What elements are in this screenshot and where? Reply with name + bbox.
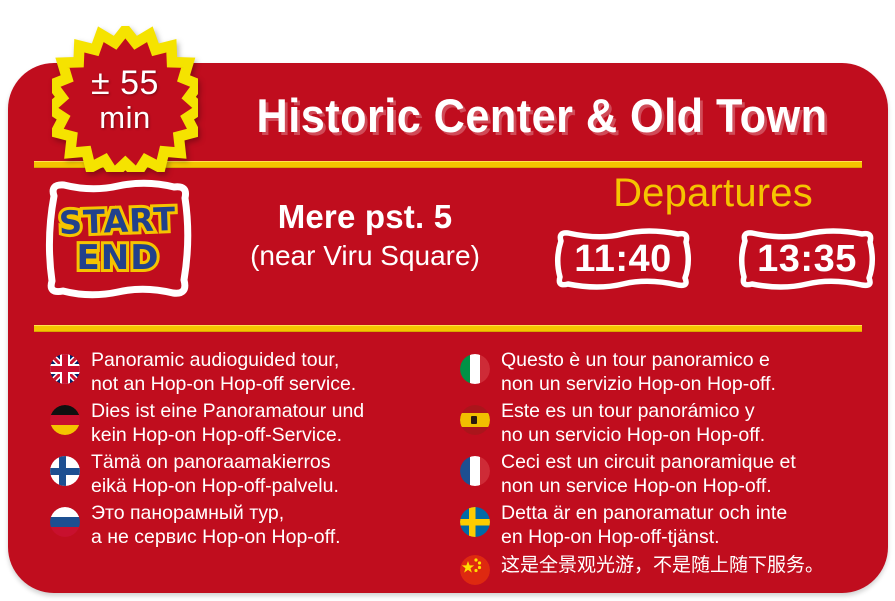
language-row-zh: 这是全景观光游，不是随上随下服务。 xyxy=(460,552,875,585)
china-flag-icon xyxy=(460,555,490,585)
france-flag-icon xyxy=(460,456,490,486)
italy-flag-icon xyxy=(460,354,490,384)
page-title: Historic Center & Old Town xyxy=(233,88,851,143)
language-row-de: Dies ist eine Panoramatour und kein Hop-… xyxy=(50,399,440,447)
language-row-en: Panoramic audioguided tour, not an Hop-o… xyxy=(50,348,440,396)
language-row-fi: Tämä on panoraamakierros eikä Hop-on Hop… xyxy=(50,450,440,498)
language-list-right: Questo è un tour panoramico e non un ser… xyxy=(460,348,875,588)
language-text-es: Este es un tour panorámico y no un servi… xyxy=(501,399,765,447)
spain-flag-icon xyxy=(460,405,490,435)
language-row-sv: Detta är en panoramatur och inte en Hop-… xyxy=(460,501,875,549)
language-text-sv: Detta är en panoramatur och inte en Hop-… xyxy=(501,501,787,549)
language-text-de: Dies ist eine Panoramatour und kein Hop-… xyxy=(91,399,364,447)
stop-address-block: Mere pst. 5 (near Viru Square) xyxy=(205,198,525,272)
language-row-fr: Ceci est un circuit panoramique et non u… xyxy=(460,450,875,498)
language-text-fi: Tämä on panoraamakierros eikä Hop-on Hop… xyxy=(91,450,339,498)
stop-landmark: (near Viru Square) xyxy=(205,240,525,272)
departure-time-box: 13:35 xyxy=(736,228,878,290)
departure-time-value: 11:40 xyxy=(552,228,694,290)
language-text-en: Panoramic audioguided tour, not an Hop-o… xyxy=(91,348,356,396)
language-text-ru: Это панорамный тур, а не сервис Hop-on H… xyxy=(91,501,341,549)
start-end-logo: START END xyxy=(42,176,194,304)
sweden-flag-icon xyxy=(460,507,490,537)
language-row-ru: Это панорамный тур, а не сервис Hop-on H… xyxy=(50,501,440,549)
departure-time-value: 13:35 xyxy=(736,228,878,290)
language-text-fr: Ceci est un circuit panoramique et non u… xyxy=(501,450,796,498)
finland-flag-icon xyxy=(50,456,80,486)
germany-flag-icon xyxy=(50,405,80,435)
departures-times: 11:40 13:35 xyxy=(552,228,878,290)
language-text-it: Questo è un tour panoramico e non un ser… xyxy=(501,348,776,396)
tour-info-card: ± 55 min Historic Center & Old Town STAR… xyxy=(0,0,895,601)
language-text-zh: 这是全景观光游，不是随上随下服务。 xyxy=(501,552,824,578)
language-list-left: Panoramic audioguided tour, not an Hop-o… xyxy=(50,348,440,552)
uk-flag-icon xyxy=(50,354,80,384)
stop-address: Mere pst. 5 xyxy=(205,198,525,236)
duration-badge: ± 55 min xyxy=(52,26,198,172)
divider-bottom xyxy=(34,325,862,332)
language-row-it: Questo è un tour panoramico e non un ser… xyxy=(460,348,875,396)
language-row-es: Este es un tour panorámico y no un servi… xyxy=(460,399,875,447)
starburst-icon xyxy=(52,26,198,172)
wavy-frame-icon xyxy=(42,176,194,304)
departure-time-box: 11:40 xyxy=(552,228,694,290)
russia-flag-icon xyxy=(50,507,80,537)
departures-heading: Departures xyxy=(548,171,878,216)
